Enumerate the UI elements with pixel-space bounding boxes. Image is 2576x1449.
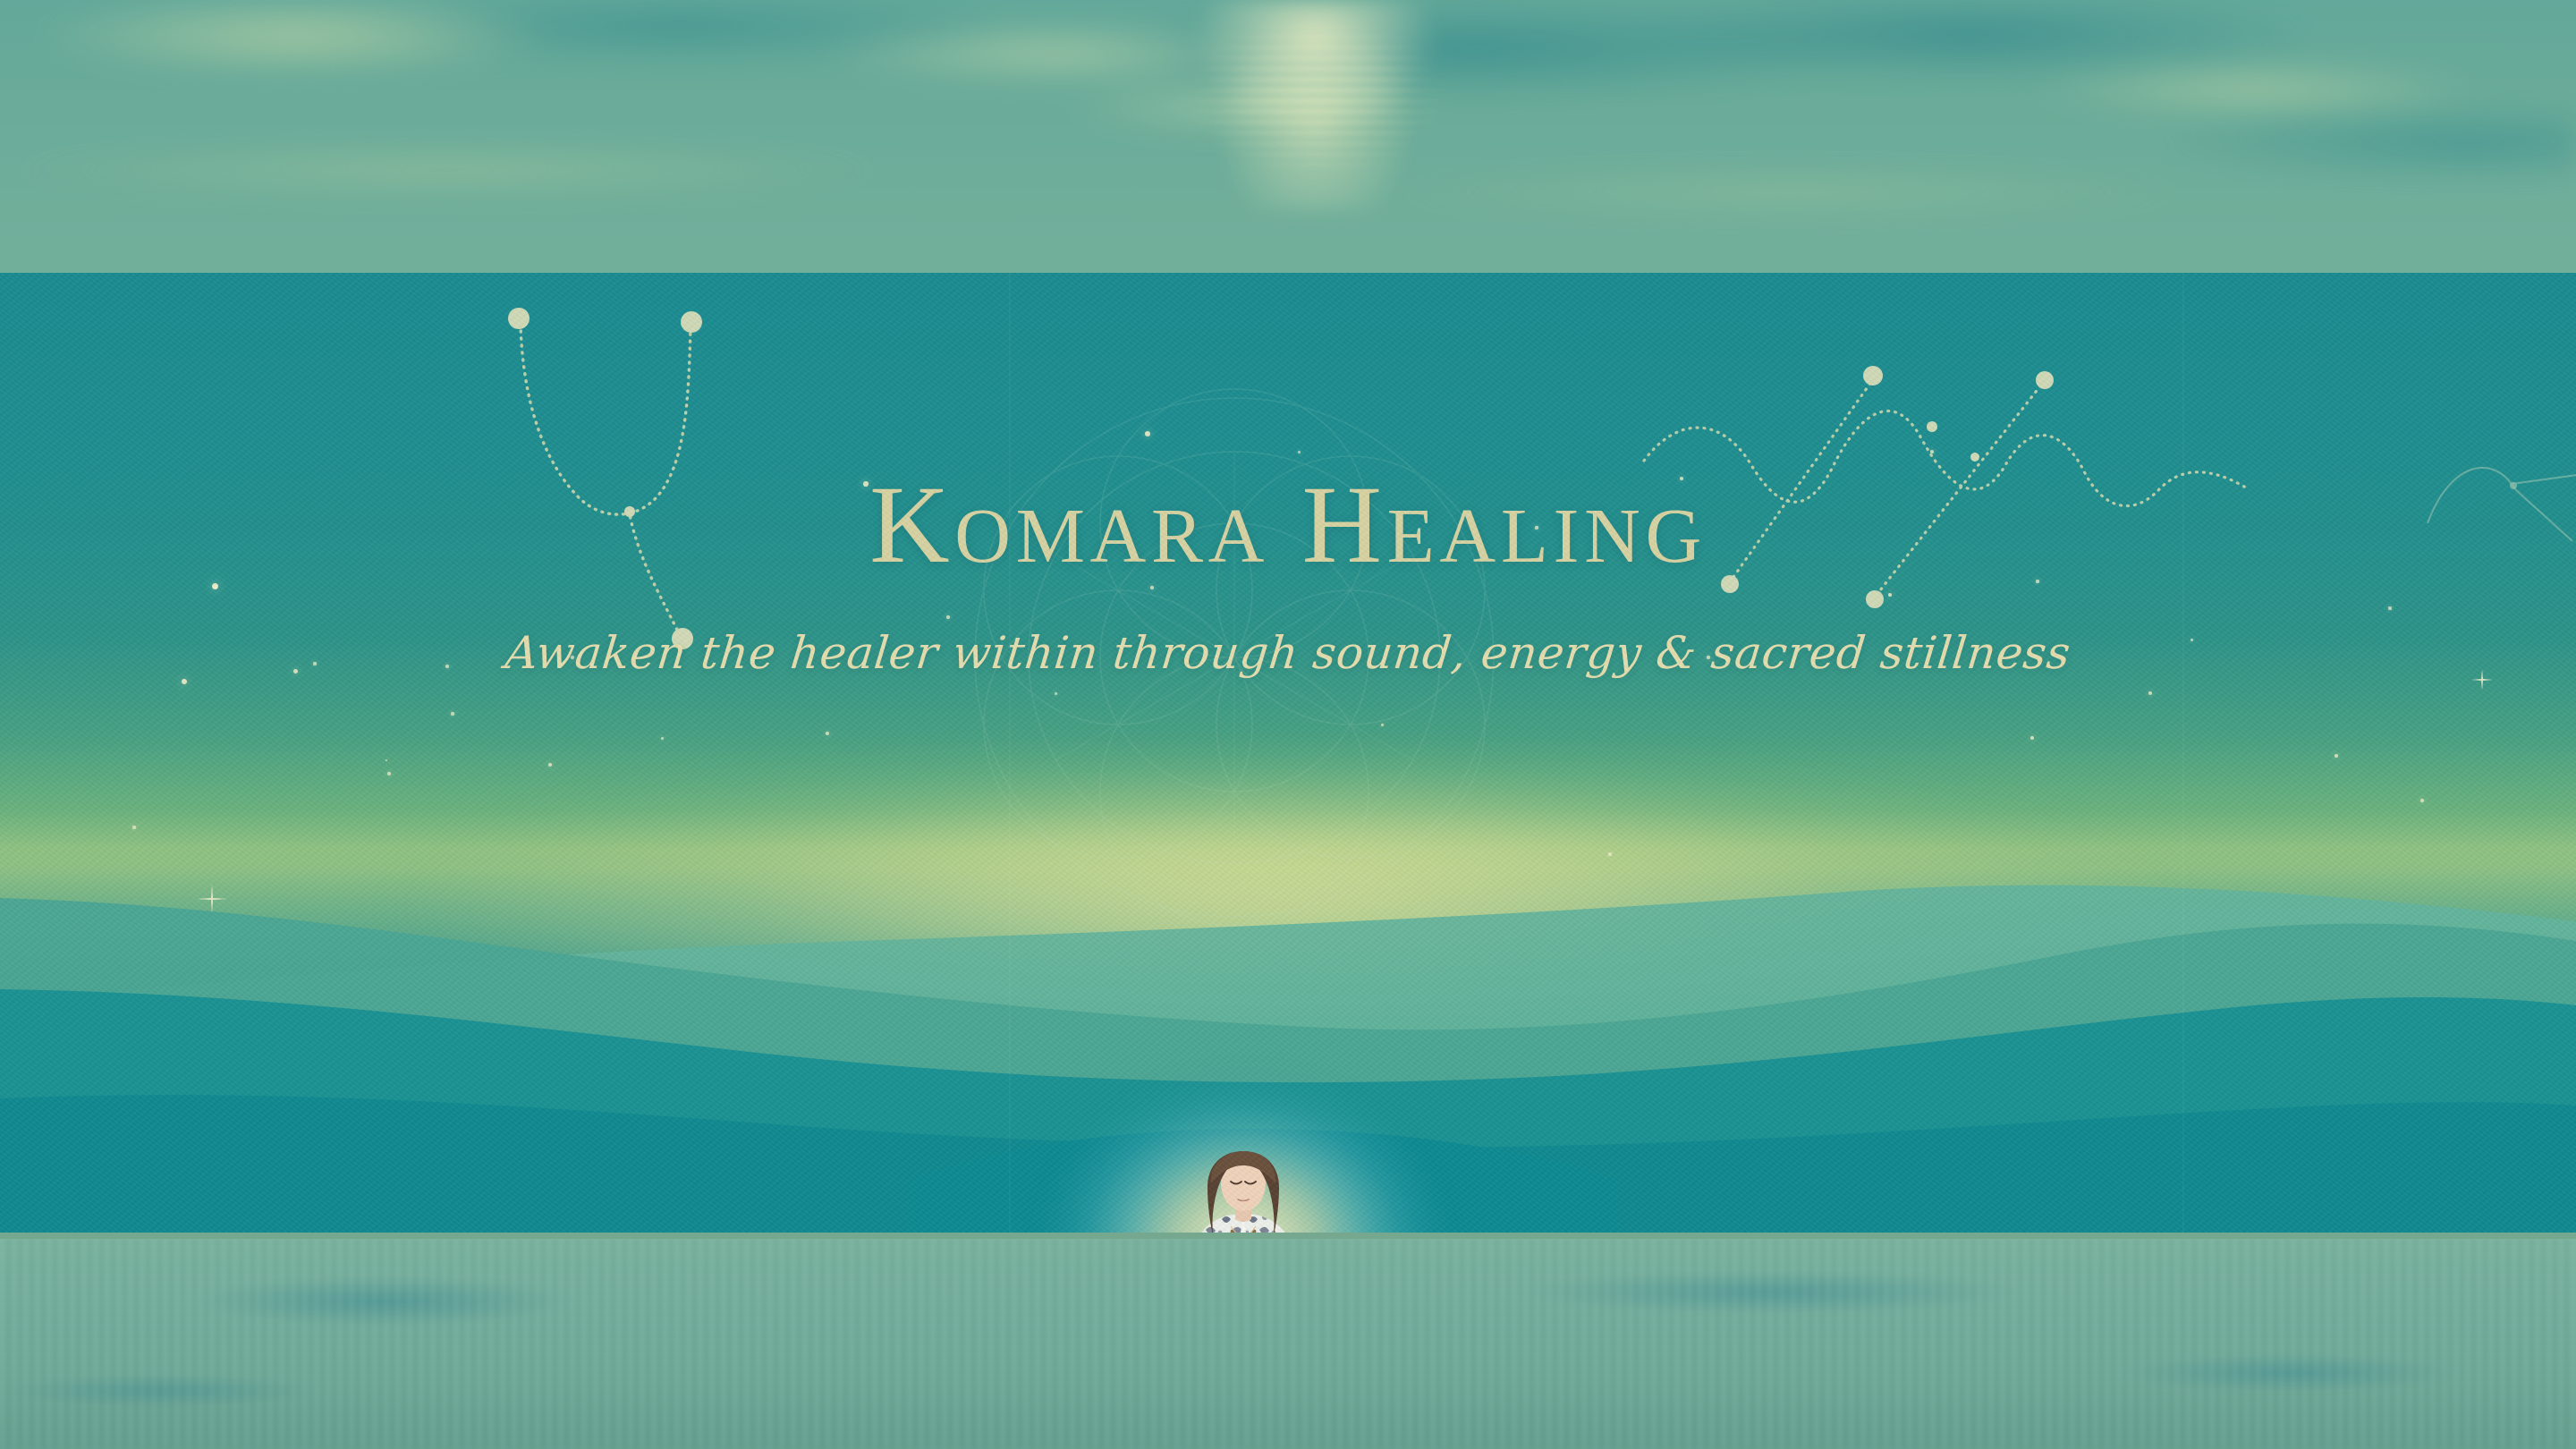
page-title: Komara Healing (0, 468, 2576, 583)
four-point-sparkle-icon (2471, 669, 2493, 691)
hero-banner: Komara Healing Awaken the healer within … (0, 0, 2576, 1449)
star-dot-icon (313, 662, 316, 665)
water-background (0, 1239, 2576, 1449)
star-dot-icon (1707, 656, 1710, 659)
star-dot-icon (451, 712, 453, 715)
star-dot-icon (863, 481, 868, 486)
horizon-arc-line-icon (2415, 407, 2576, 568)
star-dot-icon (2148, 691, 2152, 695)
tuning-fork-constellation-icon (465, 286, 787, 662)
star-dot-icon (1150, 586, 1154, 589)
water-light-streaks (1100, 0, 1529, 210)
star-dot-icon (2388, 606, 2391, 609)
star-dot-icon (182, 679, 187, 684)
star-dot-icon (1298, 451, 1301, 453)
sound-wave-constellation-icon (1637, 282, 2263, 640)
star-dot-icon (212, 583, 218, 589)
water-ripple-texture (0, 1239, 2576, 1449)
tagline: Awaken the healer within through sound, … (0, 626, 2576, 680)
star-dot-icon (1535, 526, 1538, 529)
star-dot-icon (1680, 477, 1683, 480)
lotus-pose-silhouette-icon (1109, 1131, 1377, 1233)
hero-panel: Komara Healing Awaken the healer within … (0, 273, 2576, 1233)
star-dot-icon (1930, 450, 1934, 453)
star-dot-icon (293, 669, 298, 674)
meditating-woman-figure (993, 1015, 1494, 1233)
star-dot-icon (946, 615, 950, 619)
star-dot-icon (1145, 431, 1150, 436)
star-dot-icon (1381, 724, 1384, 726)
star-dot-icon (1888, 593, 1893, 597)
star-dot-icon (2190, 639, 2193, 641)
star-dot-icon (2036, 580, 2038, 582)
star-dot-icon (1055, 692, 1057, 695)
star-dot-icon (445, 665, 449, 668)
star-dot-icon (571, 656, 574, 659)
